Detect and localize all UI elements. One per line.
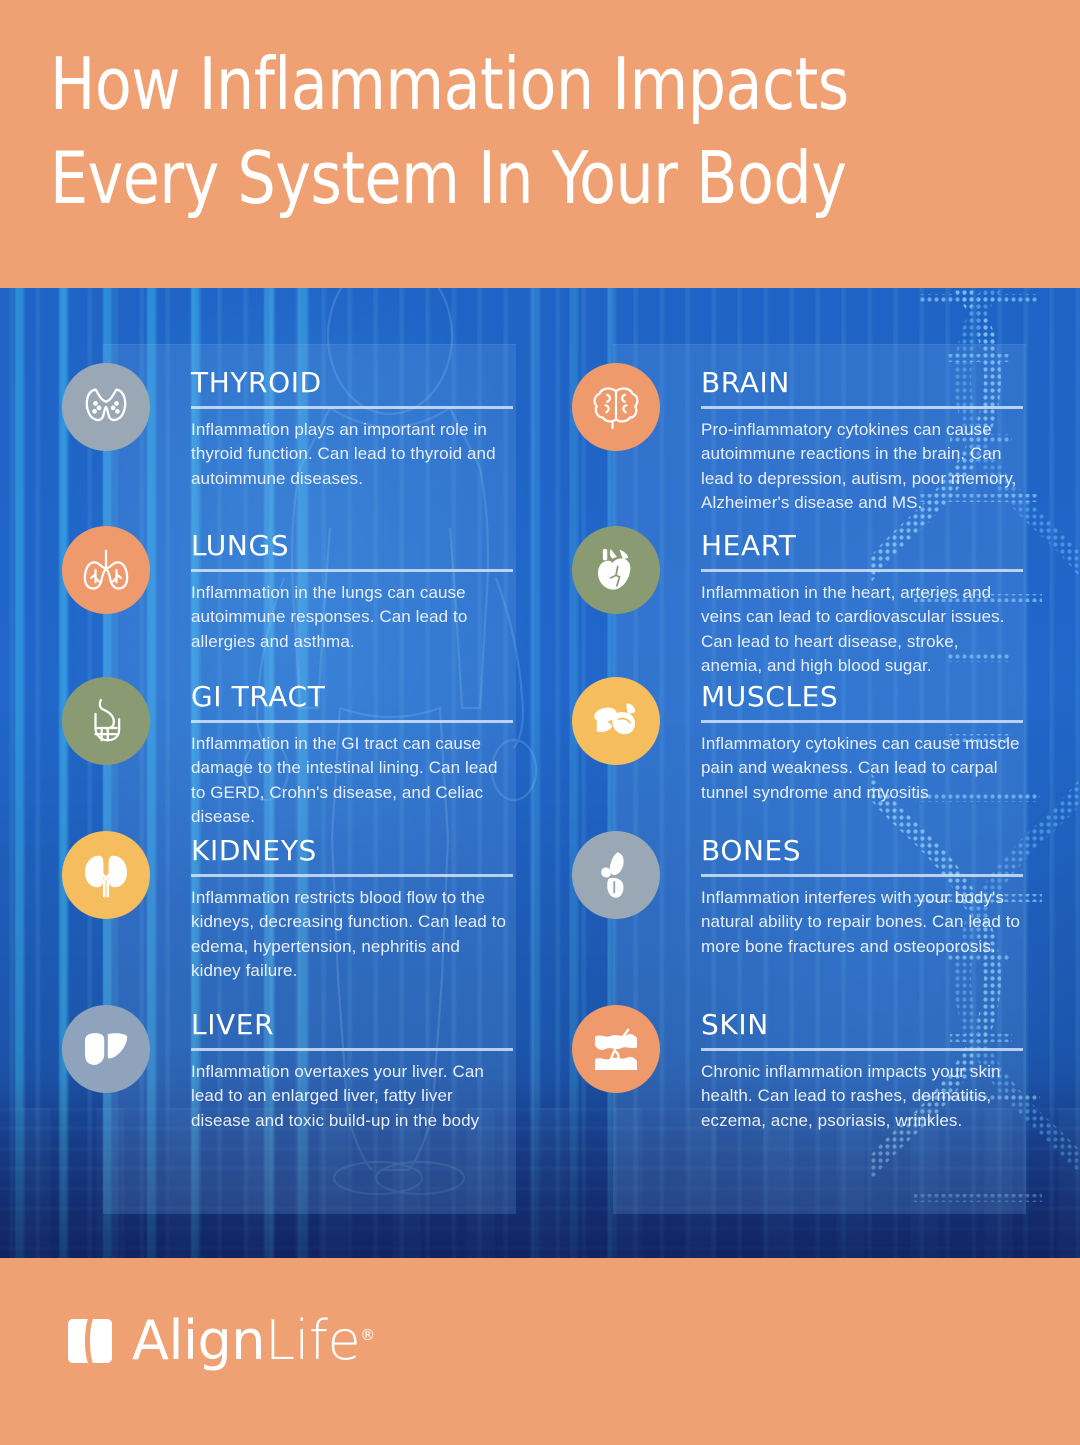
alignlife-logo-icon: [64, 1315, 116, 1367]
liver-description: Inflammation overtaxes your liver. Can l…: [191, 1060, 513, 1133]
liver-body: LIVER Inflammation overtaxes your liver.…: [191, 1011, 513, 1133]
heart-icon: [588, 542, 644, 598]
skin-title: SKIN: [701, 1011, 1023, 1039]
page-title-line-1: How Inflammation Impacts: [50, 38, 961, 132]
brand-align: Align: [132, 1309, 265, 1372]
gi-tract-divider: [191, 720, 513, 723]
kidneys-icon: [78, 847, 134, 903]
brain-description: Pro-inflammatory cytokines can cause aut…: [701, 418, 1023, 515]
heart-title: HEART: [701, 532, 1023, 560]
lungs-body: LUNGS Inflammation in the lungs can caus…: [191, 532, 513, 654]
gi-tract-title: GI TRACT: [191, 683, 513, 711]
skin-body: SKIN Chronic inflammation impacts your s…: [701, 1011, 1023, 1133]
alignlife-wordmark: AlignLife®: [132, 1314, 375, 1368]
muscles-icon: [588, 693, 644, 749]
lungs-title: LUNGS: [191, 532, 513, 560]
header-banner: How Inflammation Impacts Every System In…: [0, 0, 1080, 288]
brain-badge[interactable]: [572, 363, 660, 451]
thyroid-icon: [78, 379, 134, 435]
kidneys-title: KIDNEYS: [191, 837, 513, 865]
gi-tract-icon: [78, 693, 134, 749]
kidneys-divider: [191, 874, 513, 877]
muscles-description: Inflammatory cytokines can cause muscle …: [701, 732, 1023, 805]
heart-badge[interactable]: [572, 526, 660, 614]
bones-title: BONES: [701, 837, 1023, 865]
liver-badge[interactable]: [62, 1005, 150, 1093]
liver-title: LIVER: [191, 1011, 513, 1039]
thyroid-divider: [191, 406, 513, 409]
kidneys-description: Inflammation restricts blood flow to the…: [191, 886, 513, 983]
page-title-line-2: Every System In Your Body: [50, 132, 961, 226]
bones-badge[interactable]: [572, 831, 660, 919]
gi-tract-badge[interactable]: [62, 677, 150, 765]
thyroid-title: THYROID: [191, 369, 513, 397]
thyroid-description: Inflammation plays an important role in …: [191, 418, 513, 491]
alignlife-logo[interactable]: AlignLife®: [64, 1314, 375, 1368]
heart-description: Inflammation in the heart, arteries and …: [701, 581, 1023, 678]
bones-body: BONES Inflammation interferes with your …: [701, 837, 1023, 959]
kidneys-badge[interactable]: [62, 831, 150, 919]
brain-body: BRAIN Pro-inflammatory cytokines can cau…: [701, 369, 1023, 515]
lungs-divider: [191, 569, 513, 572]
lungs-icon: [78, 542, 134, 598]
footer-banner: AlignLife®: [0, 1258, 1080, 1445]
gi-tract-description: Inflammation in the GI tract can cause d…: [191, 732, 513, 829]
skin-icon: [588, 1021, 644, 1077]
heart-body: HEART Inflammation in the heart, arterie…: [701, 532, 1023, 678]
page-title: How Inflammation Impacts Every System In…: [50, 38, 961, 225]
gi-tract-body: GI TRACT Inflammation in the GI tract ca…: [191, 683, 513, 829]
registered-trademark: ®: [360, 1326, 375, 1344]
kidneys-body: KIDNEYS Inflammation restricts blood flo…: [191, 837, 513, 983]
bones-divider: [701, 874, 1023, 877]
brand-life: Life: [265, 1309, 360, 1372]
brain-title: BRAIN: [701, 369, 1023, 397]
liver-icon: [78, 1021, 134, 1077]
thyroid-body: THYROID Inflammation plays an important …: [191, 369, 513, 491]
bones-description: Inflammation interferes with your body's…: [701, 886, 1023, 959]
muscles-divider: [701, 720, 1023, 723]
brain-icon: [588, 379, 644, 435]
brain-divider: [701, 406, 1023, 409]
lungs-description: Inflammation in the lungs can cause auto…: [191, 581, 513, 654]
liver-divider: [191, 1048, 513, 1051]
heart-divider: [701, 569, 1023, 572]
skin-divider: [701, 1048, 1023, 1051]
thyroid-badge[interactable]: [62, 363, 150, 451]
bones-icon: [588, 847, 644, 903]
muscles-body: MUSCLES Inflammatory cytokines can cause…: [701, 683, 1023, 805]
lungs-badge[interactable]: [62, 526, 150, 614]
muscles-title: MUSCLES: [701, 683, 1023, 711]
muscles-badge[interactable]: [572, 677, 660, 765]
skin-description: Chronic inflammation impacts your skin h…: [701, 1060, 1023, 1133]
skin-badge[interactable]: [572, 1005, 660, 1093]
